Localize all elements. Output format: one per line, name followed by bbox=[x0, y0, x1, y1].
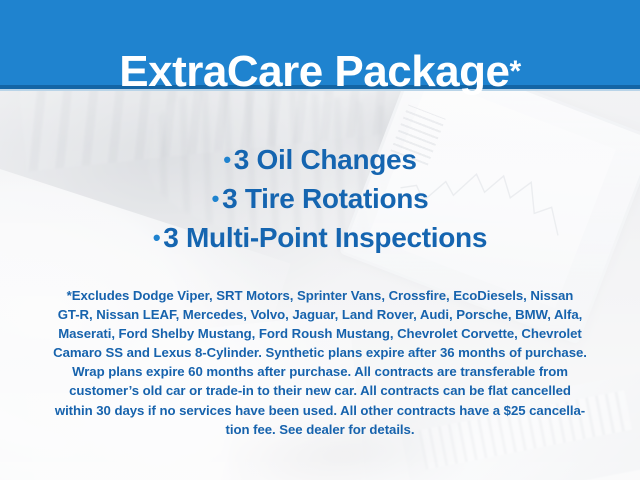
benefit-label: 3 Tire Rotations bbox=[222, 183, 428, 214]
disclaimer-text: *Excludes Dodge Viper, SRT Motors, Sprin… bbox=[28, 286, 612, 439]
bullet-dot-icon: • bbox=[223, 147, 230, 172]
disclaimer-line: tion fee. See dealer for details. bbox=[28, 420, 612, 439]
disclaimer-line: customer’s old car or trade-in to their … bbox=[28, 381, 612, 400]
benefit-label: 3 Oil Changes bbox=[234, 144, 417, 175]
benefits-list: •3 Oil Changes •3 Tire Rotations •3 Mult… bbox=[0, 140, 640, 257]
page-title-asterisk: * bbox=[510, 57, 521, 87]
bullet-dot-icon: • bbox=[212, 186, 219, 211]
disclaimer-line: GT-R, Nissan LEAF, Mercedes, Volvo, Jagu… bbox=[28, 305, 612, 324]
benefit-item-tire-rotations: •3 Tire Rotations bbox=[0, 179, 640, 218]
benefit-label: 3 Multi-Point Inspections bbox=[163, 222, 487, 253]
bullet-dot-icon: • bbox=[153, 225, 160, 250]
benefit-item-multi-point-inspections: •3 Multi-Point Inspections bbox=[0, 218, 640, 257]
disclaimer-line: Camaro SS and Lexus 8-Cylinder. Syntheti… bbox=[28, 343, 612, 362]
disclaimer-line: Wrap plans expire 60 months after purcha… bbox=[28, 362, 612, 381]
benefit-item-oil-changes: •3 Oil Changes bbox=[0, 140, 640, 179]
disclaimer-line: within 30 days if no services have been … bbox=[28, 401, 612, 420]
page-title: ExtraCare Package* bbox=[0, 29, 640, 114]
disclaimer-line: *Excludes Dodge Viper, SRT Motors, Sprin… bbox=[28, 286, 612, 305]
extracare-package-ad: ExtraCare Package* •3 Oil Changes •3 Tir… bbox=[0, 0, 640, 480]
page-title-text: ExtraCare Package bbox=[119, 50, 509, 94]
disclaimer-line: Maserati, Ford Shelby Mustang, Ford Rous… bbox=[28, 324, 612, 343]
